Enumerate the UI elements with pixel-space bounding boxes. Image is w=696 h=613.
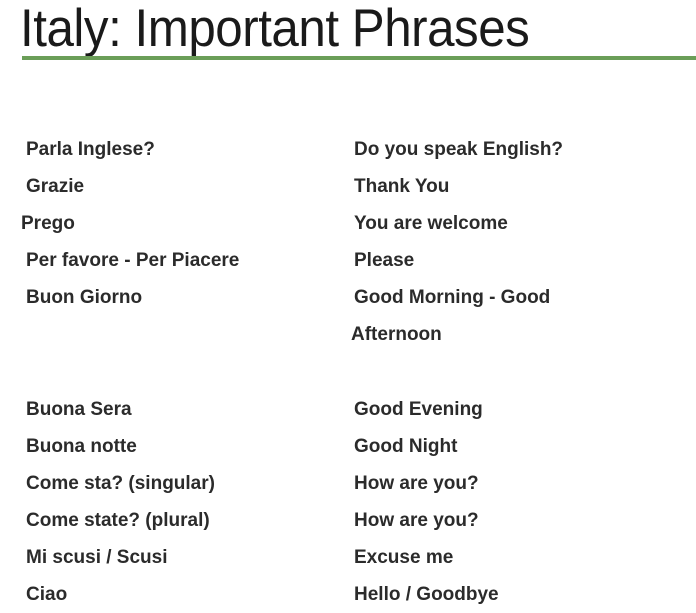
italian-phrase: Come sta? (singular): [0, 465, 347, 502]
english-translation: Good Morning - Good Afternoon: [347, 279, 696, 353]
title-underline-rule: [22, 56, 696, 60]
english-translation-line-1: Good Morning - Good: [354, 279, 696, 316]
english-translation: Good Night: [347, 428, 696, 465]
italian-phrase: Per favore - Per Piacere: [0, 242, 347, 279]
italian-phrase: Mi scusi / Scusi: [0, 539, 347, 576]
phrase-group-one: Parla Inglese? Do you speak English? Gra…: [0, 131, 696, 353]
english-translation: Please: [347, 242, 696, 279]
italian-phrase: Ciao: [0, 576, 347, 613]
phrase-row: Mi scusi / Scusi Excuse me: [0, 539, 696, 576]
phrase-row: Ciao Hello / Goodbye: [0, 576, 696, 613]
italian-phrase: Buona Sera: [0, 391, 347, 428]
italian-phrase: Prego: [0, 205, 347, 242]
italian-phrase: Come state? (plural): [0, 502, 347, 539]
phrase-row: Come state? (plural) How are you?: [0, 502, 696, 539]
english-translation-line-2: Afternoon: [351, 316, 696, 353]
english-translation: How are you?: [347, 465, 696, 502]
phrase-row: Parla Inglese? Do you speak English?: [0, 131, 696, 168]
phrase-table: Parla Inglese? Do you speak English? Gra…: [0, 131, 696, 613]
english-translation: Excuse me: [347, 539, 696, 576]
english-translation: Do you speak English?: [347, 131, 696, 168]
italian-phrase: Buon Giorno: [0, 279, 347, 316]
phrase-group-two: Buona Sera Good Evening Buona notte Good…: [0, 391, 696, 613]
slide-canvas: Italy: Important Phrases Parla Inglese? …: [0, 0, 696, 583]
page-title: Italy: Important Phrases: [20, 0, 529, 60]
phrase-row: Grazie Thank You: [0, 168, 696, 205]
phrase-row: Buona notte Good Night: [0, 428, 696, 465]
italian-phrase: Grazie: [0, 168, 347, 205]
english-translation: You are welcome: [347, 205, 696, 242]
phrase-row: Buon Giorno Good Morning - Good Afternoo…: [0, 279, 696, 353]
italian-phrase: Parla Inglese?: [0, 131, 347, 168]
phrase-group-separator: [0, 353, 696, 391]
phrase-row: Prego You are welcome: [0, 205, 696, 242]
phrase-row: Come sta? (singular) How are you?: [0, 465, 696, 502]
english-translation: Hello / Goodbye: [347, 576, 696, 613]
italian-phrase: Buona notte: [0, 428, 347, 465]
phrase-row: Per favore - Per Piacere Please: [0, 242, 696, 279]
english-translation: Good Evening: [347, 391, 696, 428]
phrase-row: Buona Sera Good Evening: [0, 391, 696, 428]
english-translation: Thank You: [347, 168, 696, 205]
english-translation: How are you?: [347, 502, 696, 539]
